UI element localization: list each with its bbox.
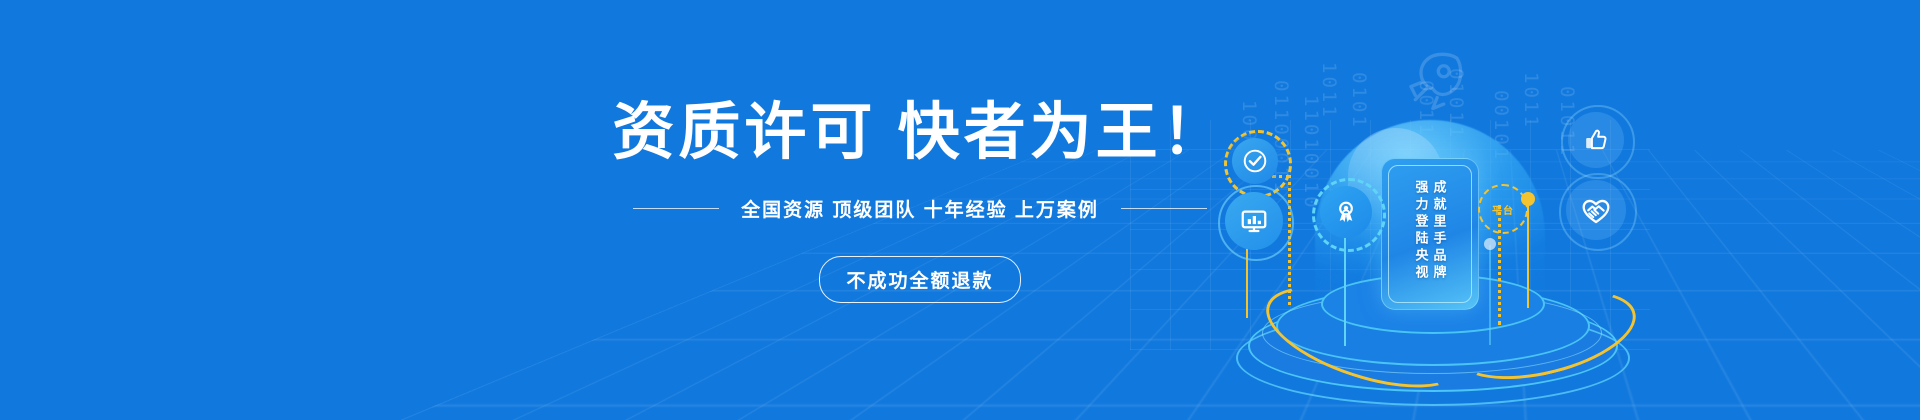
pin-stem-cyan-medal [1344, 236, 1346, 346]
rocket-icon [1400, 45, 1470, 115]
phone-device: 成就里手品牌 强力登陆央视 [1381, 158, 1479, 310]
platform-chip: 平台 [1478, 184, 1528, 234]
hero-banner: 1011 0101 11010010 01100011 0011 01011 0… [0, 0, 1920, 420]
phone-text-column-left: 强力登陆央视 [1415, 180, 1428, 282]
pin-dot-grey [1484, 238, 1496, 250]
subtitle: 全国资源 顶级团队 十年经验 上万案例 [741, 195, 1099, 222]
handshake-heart-glyph [1579, 193, 1613, 227]
binary-digits: 0101 [1348, 72, 1370, 130]
refund-guarantee-button[interactable]: 不成功全额退款 [819, 256, 1020, 303]
phone-vertical-text: 成就里手品牌 强力登陆央视 [1389, 180, 1471, 282]
thumbs-up-icon[interactable] [1568, 112, 1624, 168]
medal-glyph [1332, 198, 1360, 226]
platform-chip-label: 平台 [1492, 202, 1514, 217]
hero-copy: 资质许可 快者为王！ 全国资源 顶级团队 十年经验 上万案例 不成功全额退款 [560, 100, 1280, 303]
phone-text-column-right: 成就里手品牌 [1433, 180, 1446, 282]
binary-digits: 1011 [1520, 72, 1542, 130]
handshake-heart-icon[interactable] [1566, 180, 1626, 240]
subtitle-divider-right [1121, 208, 1207, 209]
pin-stem-cyan-right [1489, 245, 1491, 345]
phone-screen: 成就里手品牌 强力登陆央视 [1388, 165, 1472, 303]
subtitle-row: 全国资源 顶级团队 十年经验 上万案例 [560, 195, 1280, 222]
subtitle-divider-left [633, 208, 719, 209]
pin-stem-yellow-right [1527, 200, 1529, 308]
medal-award-icon[interactable] [1320, 186, 1372, 238]
thumbs-up-glyph [1582, 126, 1610, 154]
page-title: 资质许可 快者为王！ [560, 100, 1280, 165]
